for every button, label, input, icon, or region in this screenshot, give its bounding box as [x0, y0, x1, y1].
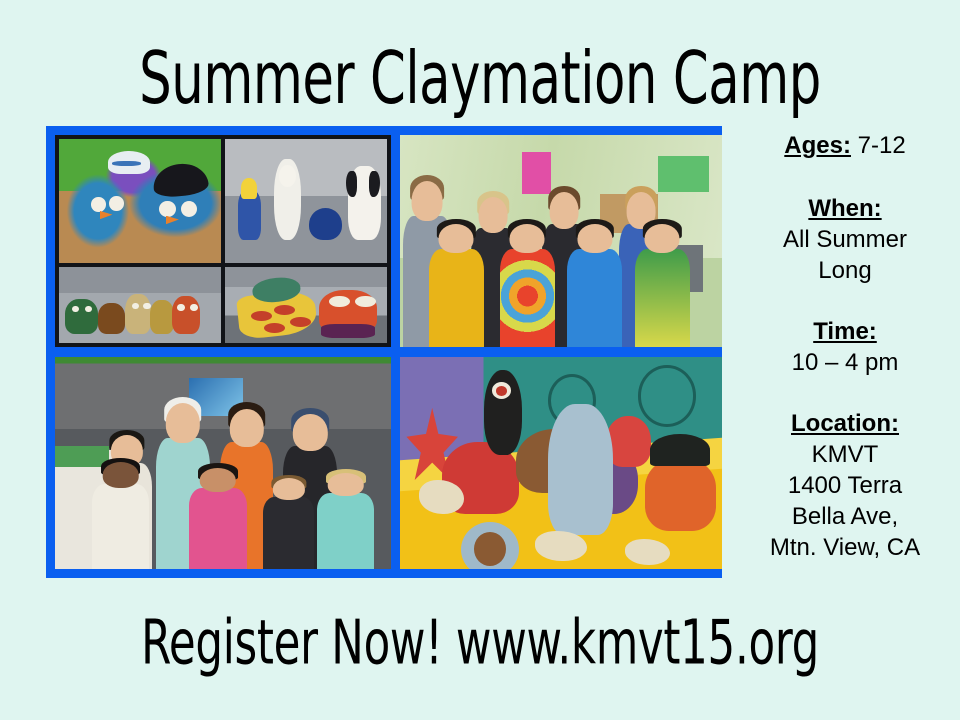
time-block: Time: 10 – 4 pm [730, 316, 960, 378]
register-call-to-action[interactable]: Register Now! www.kmvt15.org [34, 608, 927, 679]
collage-photo-top-right [400, 135, 722, 347]
page-title: Summer Claymation Camp [38, 38, 921, 119]
photo-collage [46, 126, 722, 578]
sub-photo-shelf-figures [225, 139, 387, 263]
ages-block: Ages: 7-12 [730, 130, 960, 161]
collage-photo-top-left [55, 135, 391, 347]
sub-collage [55, 135, 391, 347]
location-heading: Location: [730, 408, 960, 439]
when-line-1: All Summer [730, 224, 960, 255]
collage-photo-bottom-left [55, 357, 391, 569]
poster: Summer Claymation Camp [0, 0, 960, 720]
when-line-2: Long [730, 255, 960, 286]
when-block: When: All Summer Long [730, 193, 960, 286]
location-block: Location: KMVT 1400 Terra Bella Ave, Mtn… [730, 408, 960, 563]
sub-photo-blue-owls [59, 139, 221, 263]
info-column: Ages: 7-12 When: All Summer Long Time: 1… [730, 130, 960, 569]
when-heading: When: [730, 193, 960, 224]
location-line-4: Mtn. View, CA [730, 532, 960, 563]
sub-photo-monster-row [59, 267, 221, 343]
ages-value: 7-12 [851, 132, 906, 159]
time-line-1: 10 – 4 pm [730, 347, 960, 378]
location-line-1: KMVT [730, 439, 960, 470]
sub-photo-pizza-snail [225, 267, 387, 343]
ages-heading: Ages: [784, 132, 851, 159]
collage-photo-bottom-right [400, 357, 722, 569]
time-heading: Time: [730, 316, 960, 347]
location-line-3: Bella Ave, [730, 501, 960, 532]
ages-line: Ages: 7-12 [730, 130, 960, 161]
location-line-2: 1400 Terra [730, 470, 960, 501]
